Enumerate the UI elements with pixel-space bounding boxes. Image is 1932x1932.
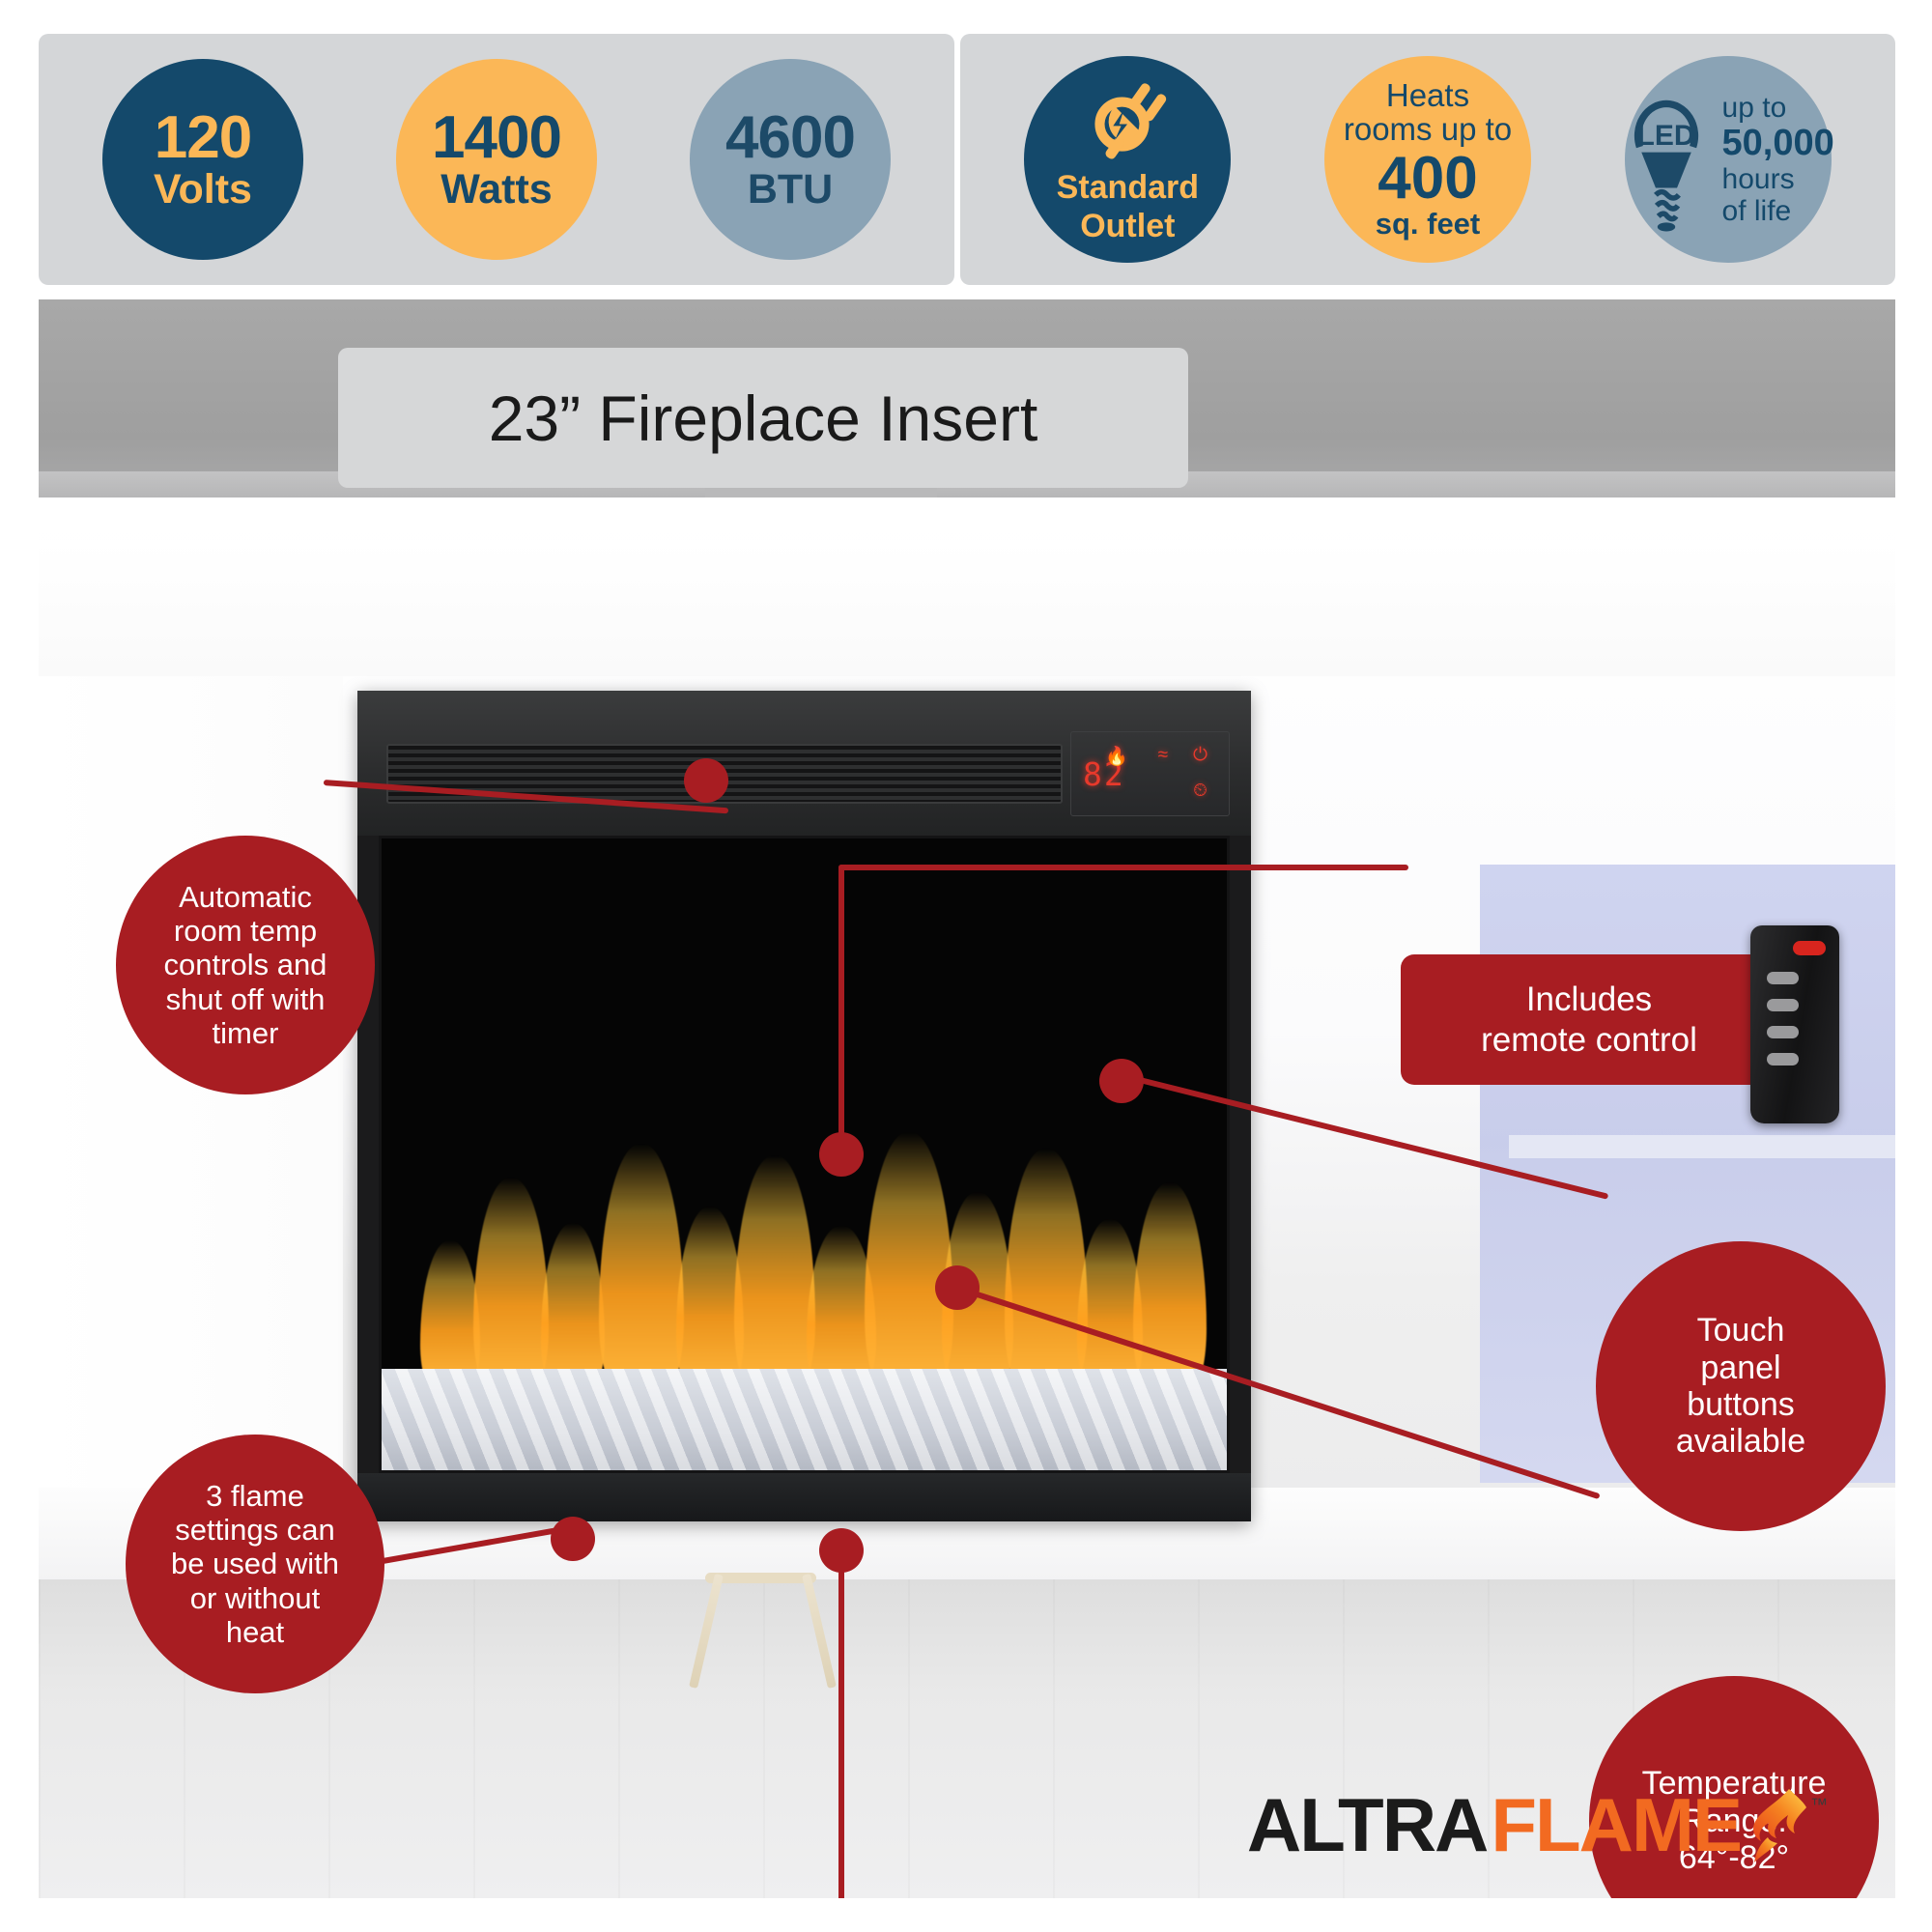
logo-flame-text: FLAME bbox=[1491, 1781, 1741, 1869]
shelf-right bbox=[1509, 1135, 1895, 1158]
flame-effect bbox=[382, 1076, 1227, 1385]
badge-heats-unit: sq. feet bbox=[1376, 209, 1481, 240]
badge-watts-number: 1400 bbox=[432, 107, 561, 168]
leader-dot-flame3 bbox=[551, 1517, 595, 1561]
badge-btu-unit: BTU bbox=[748, 169, 833, 212]
console-top-surface bbox=[39, 541, 1895, 676]
badge-outlet-label-2: Outlet bbox=[1080, 210, 1175, 244]
callout-flame3-line-2: settings can bbox=[171, 1513, 339, 1547]
callout-auto-temp-line-5: timer bbox=[164, 1016, 327, 1050]
callout-auto-temp: Automatic room temp controls and shut of… bbox=[116, 836, 375, 1094]
badge-volts-unit: Volts bbox=[154, 169, 252, 212]
badge-volts-number: 120 bbox=[155, 107, 251, 168]
flame-icon[interactable]: 🔥 bbox=[1105, 745, 1128, 768]
leader-dot-crystal bbox=[819, 1528, 864, 1573]
callout-touch-line-3: buttons bbox=[1676, 1386, 1805, 1423]
callout-remote-line-1: Includes bbox=[1481, 980, 1697, 1019]
brand-logo: ALTRA FLAME ™ bbox=[1247, 1781, 1828, 1869]
page-title: 23” Fireplace Insert bbox=[489, 382, 1038, 455]
leader-dot-remote bbox=[819, 1132, 864, 1177]
leader-dot-auto-temp bbox=[684, 758, 728, 803]
callout-touch-panel: Touch panel buttons available bbox=[1596, 1241, 1886, 1531]
trademark-symbol: ™ bbox=[1810, 1795, 1828, 1815]
callout-flame-settings: 3 flame settings can be used with or wit… bbox=[126, 1435, 384, 1693]
badge-outlet-label-1: Standard bbox=[1057, 171, 1199, 206]
callout-flame3-line-1: 3 flame bbox=[171, 1479, 339, 1513]
led-text-block: up to 50,000 hours of life bbox=[1722, 92, 1834, 228]
insert-top-bezel: 82 🔥 ≈ ⏻ ⏲ bbox=[357, 691, 1251, 836]
fireplace-insert: 82 🔥 ≈ ⏻ ⏲ bbox=[357, 691, 1251, 1521]
callout-flame3-line-5: heat bbox=[171, 1615, 339, 1649]
insert-bottom-bezel bbox=[357, 1473, 1251, 1521]
badge-btu-number: 4600 bbox=[725, 107, 855, 168]
remote-timer-button[interactable] bbox=[1767, 1026, 1799, 1038]
badge-watts: 1400 Watts bbox=[396, 59, 597, 260]
spec-panel-electrical: 120 Volts 1400 Watts 4600 BTU bbox=[39, 34, 954, 285]
led-line4: of life bbox=[1722, 195, 1834, 227]
callout-remote-control: Includes remote control bbox=[1401, 954, 1777, 1085]
leader-dot-touch bbox=[1099, 1059, 1144, 1103]
callout-touch-line-4: available bbox=[1676, 1423, 1805, 1460]
badge-btu: 4600 BTU bbox=[690, 59, 891, 260]
leader-dot-temp bbox=[935, 1265, 980, 1310]
badge-heats-rooms: Heats rooms up to 400 sq. feet bbox=[1324, 56, 1531, 263]
callout-flame3-line-3: be used with bbox=[171, 1547, 339, 1580]
callout-auto-temp-line-3: controls and bbox=[164, 948, 327, 981]
heat-waves-icon[interactable]: ≈ bbox=[1158, 745, 1168, 766]
crystal-ember-bed bbox=[382, 1369, 1227, 1470]
callout-touch-line-1: Touch bbox=[1676, 1312, 1805, 1349]
badge-volts: 120 Volts bbox=[102, 59, 303, 260]
led-line1: up to bbox=[1722, 92, 1834, 124]
console-left-panel bbox=[39, 676, 343, 1575]
badge-heats-line1: Heats bbox=[1386, 79, 1469, 113]
callout-auto-temp-line-2: room temp bbox=[164, 914, 327, 948]
timer-icon[interactable]: ⏲ bbox=[1193, 781, 1207, 802]
callout-remote-line-2: remote control bbox=[1481, 1020, 1697, 1060]
touch-control-panel[interactable]: 82 🔥 ≈ ⏻ ⏲ bbox=[1070, 731, 1230, 816]
callout-auto-temp-line-4: shut off with bbox=[164, 982, 327, 1016]
led-bulb-icon: LED bbox=[1622, 87, 1711, 232]
spec-panel-performance: Standard Outlet Heats rooms up to 400 sq… bbox=[960, 34, 1895, 285]
remote-control-device bbox=[1750, 925, 1839, 1123]
badge-heats-line2: rooms up to bbox=[1344, 113, 1512, 147]
spec-bar: 120 Volts 1400 Watts 4600 BTU bbox=[39, 34, 1895, 285]
badge-standard-outlet: Standard Outlet bbox=[1024, 56, 1231, 263]
led-line3: hours bbox=[1722, 163, 1834, 195]
leader-line-remote-h bbox=[838, 865, 1408, 870]
leader-line-remote-v bbox=[838, 865, 844, 1154]
badge-watts-unit: Watts bbox=[440, 169, 552, 212]
badge-heats-number: 400 bbox=[1378, 149, 1477, 209]
callout-auto-temp-line-1: Automatic bbox=[164, 880, 327, 914]
remote-heat-button[interactable] bbox=[1767, 999, 1799, 1011]
callout-touch-line-2: panel bbox=[1676, 1350, 1805, 1386]
flame-logo-icon bbox=[1739, 1787, 1806, 1864]
remote-power-button[interactable] bbox=[1793, 941, 1826, 955]
firebox-window bbox=[379, 836, 1230, 1473]
leader-line-crystal-v bbox=[838, 1555, 844, 1898]
plug-icon bbox=[1077, 74, 1178, 167]
title-plate: 23” Fireplace Insert bbox=[338, 348, 1188, 488]
logo-altra-text: ALTRA bbox=[1247, 1781, 1488, 1869]
remote-temp-button[interactable] bbox=[1767, 1053, 1799, 1065]
led-bulb-text: LED bbox=[1622, 122, 1711, 152]
badge-led-life: LED up to 50,000 hours of life bbox=[1625, 56, 1832, 263]
power-icon[interactable]: ⏻ bbox=[1193, 745, 1207, 766]
led-line2: 50,000 bbox=[1722, 124, 1834, 164]
product-scene: SONY 23” Fireplace Insert 82 🔥 ≈ ⏻ bbox=[39, 299, 1895, 1898]
callout-flame3-line-4: or without bbox=[171, 1581, 339, 1615]
remote-flame-button[interactable] bbox=[1767, 972, 1799, 984]
